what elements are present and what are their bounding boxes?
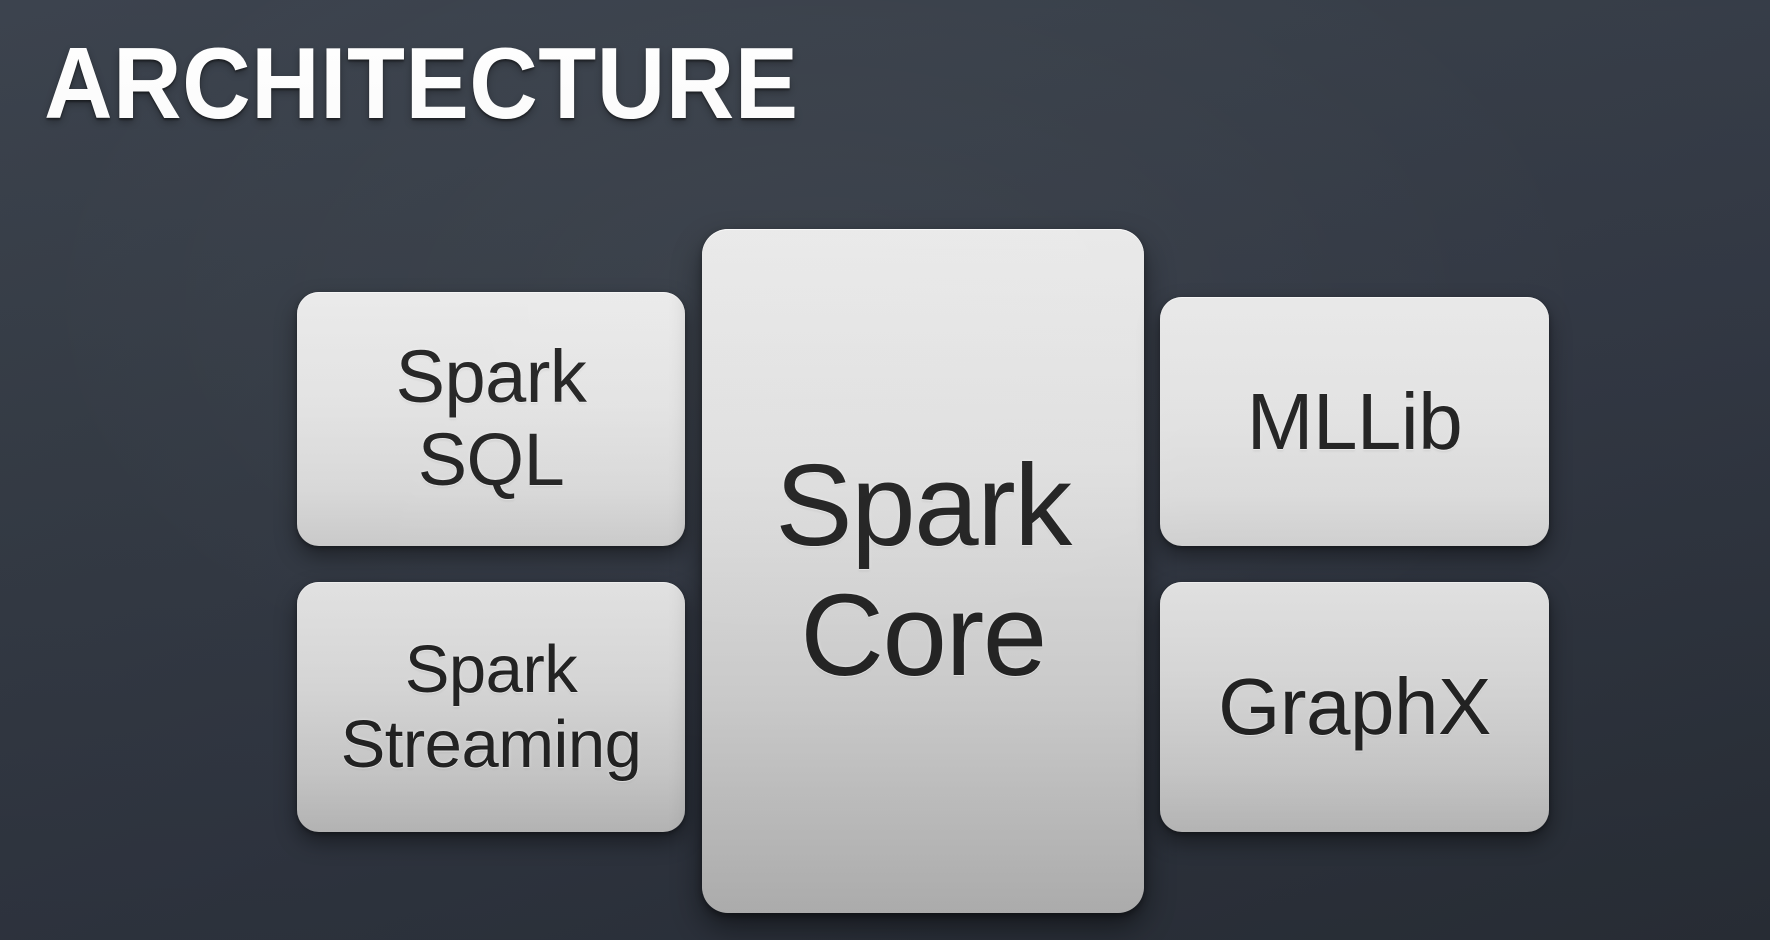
- diagram-node-label: Spark Streaming: [341, 632, 642, 782]
- diagram-node-spark-streaming[interactable]: Spark Streaming: [297, 582, 685, 832]
- architecture-slide: ARCHITECTURE Spark SQL Spark Streaming S…: [0, 0, 1770, 940]
- diagram-node-label: GraphX: [1218, 662, 1491, 752]
- diagram-node-label: Spark SQL: [396, 336, 587, 502]
- diagram-node-label: MLLib: [1247, 377, 1462, 467]
- page-title: ARCHITECTURE: [44, 34, 799, 135]
- diagram-node-graphx[interactable]: GraphX: [1160, 582, 1549, 832]
- diagram-node-label: Spark Core: [775, 441, 1071, 701]
- diagram-node-spark-core[interactable]: Spark Core: [702, 229, 1144, 913]
- diagram-node-spark-sql[interactable]: Spark SQL: [297, 292, 685, 546]
- diagram-node-mllib[interactable]: MLLib: [1160, 297, 1549, 546]
